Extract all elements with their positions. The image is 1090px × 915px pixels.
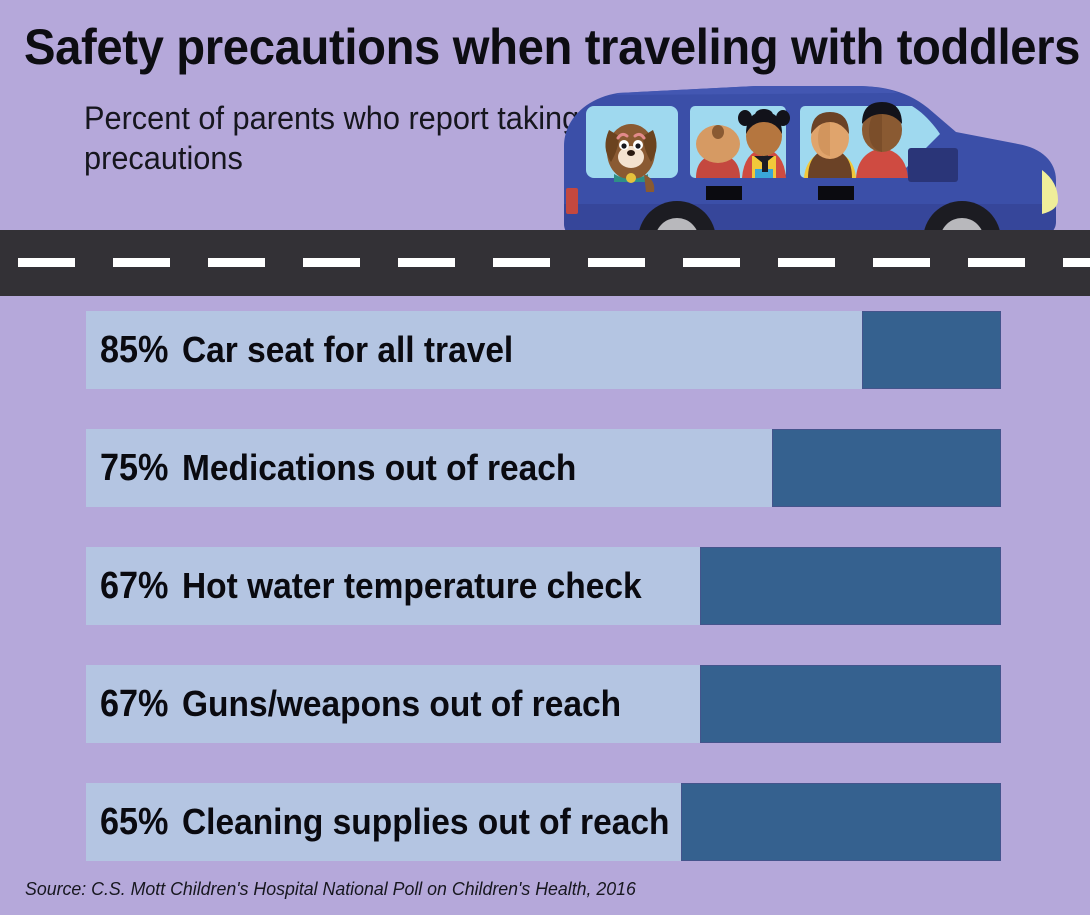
bar-fill [862, 311, 1001, 389]
bar-label: 67% Guns/weapons out of reach [86, 665, 654, 743]
bar-label: 67% Hot water temperature check [86, 547, 676, 625]
bar-row: 85% Car seat for all travel [86, 311, 1001, 389]
bar-value: 67% [100, 565, 168, 608]
road-dash [1063, 258, 1090, 267]
bar-category: Medications out of reach [182, 447, 576, 489]
bar-label: 75% Medications out of reach [86, 429, 606, 507]
bar-row: 67% Guns/weapons out of reach [86, 665, 1001, 743]
child-passenger-hat [696, 125, 740, 178]
bar-row: 75% Medications out of reach [86, 429, 1001, 507]
bar-value: 85% [100, 329, 168, 372]
road-dash [208, 258, 265, 267]
bar-category: Guns/weapons out of reach [182, 683, 621, 725]
bar-fill [772, 429, 1001, 507]
road-dash [778, 258, 835, 267]
road-strip [0, 230, 1090, 296]
subtitle: Percent of parents who report taking pre… [84, 98, 583, 178]
road-dash [588, 258, 645, 267]
bar-label: 65% Cleaning supplies out of reach [86, 783, 706, 861]
road-dash [113, 258, 170, 267]
page-title: Safety precautions when traveling with t… [24, 18, 1012, 76]
road-dash [18, 258, 75, 267]
road-dash [968, 258, 1025, 267]
bar-label: 85% Car seat for all travel [86, 311, 538, 389]
road-dash [493, 258, 550, 267]
road-dash [303, 258, 360, 267]
bar-row: 65% Cleaning supplies out of reach [86, 783, 1001, 861]
road-dash [398, 258, 455, 267]
bar-row: 67% Hot water temperature check [86, 547, 1001, 625]
bar-value: 75% [100, 447, 168, 490]
bar-category: Hot water temperature check [182, 565, 642, 607]
road-dash [683, 258, 740, 267]
source-note: Source: C.S. Mott Children's Hospital Na… [25, 878, 636, 900]
bar-fill [700, 547, 1001, 625]
infographic-root: Safety precautions when traveling with t… [0, 0, 1090, 915]
bar-fill [700, 665, 1001, 743]
bar-value: 67% [100, 683, 168, 726]
road-dash [873, 258, 930, 267]
bar-category: Cleaning supplies out of reach [182, 801, 669, 843]
bar-fill [681, 783, 1001, 861]
bar-category: Car seat for all travel [182, 329, 513, 371]
bar-value: 65% [100, 801, 168, 844]
bar-chart: 85% Car seat for all travel 75% Medicati… [0, 296, 1090, 866]
